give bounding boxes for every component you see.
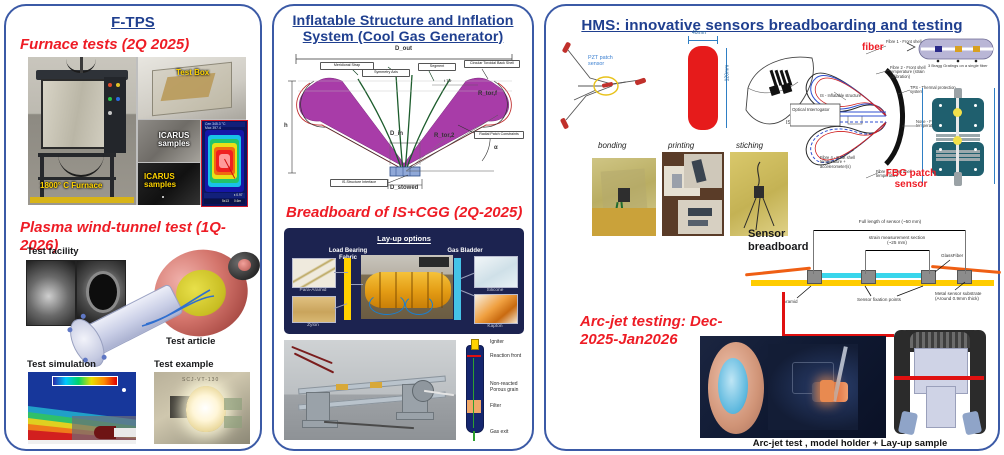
panel-title-f-tps: F-TPS (6, 15, 260, 32)
callout-segment: Segment (418, 63, 456, 71)
panel-title-inflatable-structure: Inflatable Structure and Inflation Syste… (274, 14, 532, 46)
photo-printing (662, 152, 724, 236)
inflated-bag-photo (361, 255, 453, 319)
label-para-aramid: Para-Aramid (292, 288, 334, 293)
dim-r-tor-f: R_tor,f (478, 91, 497, 97)
dim-d-stowed: D_stowed (390, 185, 418, 191)
caption-icarus-samples-1: ICARUS samples (148, 132, 200, 149)
swatch-zylon (292, 296, 336, 323)
test-article-leader-lines (136, 274, 226, 334)
caption-test-facility: Test facility (27, 246, 79, 257)
slide-root: F-TPS Furnace tests (2Q 2025) (0, 0, 1004, 455)
cgg-label-igniter: Igniter (490, 340, 504, 346)
test-example-photo: SCJ-VT-130 (154, 372, 250, 444)
ir-thermal-image: Cen 345.3 °C Max 397.4 5x13 0.6m ε 0.97 (201, 120, 248, 207)
callout-radial-patch-constraints: Radial Patch Constraints (474, 131, 524, 139)
fiber-callout-fibre-4: Fibre 4 - Back shell temperature + accel… (820, 156, 868, 169)
dim-r-tor-2: R_tor,2 (434, 133, 454, 139)
swatch-para-aramid (292, 258, 336, 288)
pzt-patch-sensor-sketch: PZT patch sensor (556, 40, 672, 136)
label-silicone: Silicone (474, 288, 516, 293)
caption-furnace: 1800° C Furnace (40, 181, 102, 190)
layup-right-group-label: Gas Bladder (442, 248, 488, 255)
dim-120mm: 120mm (724, 65, 730, 82)
caption-stiching: stiching (736, 141, 763, 150)
label-fiber: fiber (862, 42, 884, 53)
dim-h: h (284, 123, 288, 129)
dim-alpha: α (494, 145, 498, 151)
ir-readout-distance: 0.6m (234, 200, 241, 203)
bar-load-bearing-fabric (344, 258, 351, 320)
pointer-line-vertical (782, 292, 785, 336)
cgg-label-reaction-front: Reaction front (490, 354, 530, 360)
callout-is-structure-interface: IS-Structure Interface (330, 179, 388, 187)
cgg-label-gas-exit: Gas exit (490, 430, 508, 436)
inflatable-structure-diagram: D_out D_in D_stowed R_tor,f R_tor,2 h α … (282, 45, 526, 193)
callout-circular-toroidal-back-shell: Circular Toroidal Back Shell (464, 60, 520, 68)
cgg-igniter (471, 339, 479, 350)
dim-line-40mm (688, 40, 718, 41)
label-zylon: Zylon (292, 323, 334, 328)
caption-test-article: Test article (166, 336, 215, 347)
furnace-tests-image-group: 1800° C Furnace Test Box ICARUS samples … (28, 57, 246, 205)
label-fbg-patch-sensor: FBG patch sensor (878, 168, 944, 190)
layup-options-card: Lay-up options Load Bearing Fabric Gas B… (284, 228, 524, 334)
test-example-marking: SCJ-VT-130 (182, 378, 219, 383)
label-kapton: Kapton (474, 324, 516, 329)
section-label-furnace-tests: Furnace tests (2Q 2025) (20, 36, 189, 54)
arc-jet-test-photo (700, 336, 886, 438)
cgg-gas-exit (473, 431, 475, 441)
swatch-kapton (474, 294, 518, 324)
caption-bonding: bonding (598, 141, 626, 150)
dim-40mm: 40mm (692, 30, 706, 36)
caption-icarus-samples-2: ICARUS samples (144, 173, 200, 190)
dim-d-out: D_out (395, 46, 412, 52)
label-pzt-patch-sensor: PZT patch sensor (588, 56, 630, 68)
layup-options-title: Lay-up options (284, 234, 524, 243)
ir-readout-emissivity: ε 0.97 (234, 194, 243, 197)
dim-t-tor: t Tor (444, 79, 452, 83)
swatch-silicone (474, 256, 518, 288)
caption-arc-jet-test: Arc-jet test , model holder + Lay-up sam… (700, 438, 1000, 449)
fiber-note-bragg: 3 Bragg Gratings on a single fiber (928, 64, 988, 68)
caption-test-example: Test example (154, 359, 214, 370)
is-cylinder-schematic (688, 46, 718, 130)
caption-test-simulation: Test simulation (27, 359, 96, 370)
dim-line-120mm (726, 48, 727, 128)
furnace-photo: 1800° C Furnace (28, 57, 136, 205)
dim-d-in: D_in (390, 131, 403, 137)
caption-test-box: Test Box (176, 68, 209, 77)
callout-symmetry-axis: Symmetry Axis (362, 69, 410, 77)
cgg-breadboard-photo (284, 340, 456, 440)
bar-gas-bladder (454, 258, 461, 320)
panel-f-tps: F-TPS Furnace tests (2Q 2025) (4, 4, 262, 451)
fiber-callout-optical-interrogator: Optical Interrogator (792, 108, 836, 113)
fiber-cutaway-diagram (905, 33, 1000, 67)
cgg-label-filter: Filter (490, 404, 501, 410)
cgg-label-non-reacted-porous-grain: Non-reacted Porous grain (490, 382, 532, 393)
icarus-samples-photo-light: ICARUS samples (138, 120, 200, 162)
test-simulation-image (28, 372, 136, 444)
photo-bonding-substrate (592, 208, 656, 236)
caption-printing: printing (668, 141, 694, 150)
fiber-callout-is: IS - Inflatable structure (820, 94, 864, 98)
section-label-breadboard-is-cgg: Breadboard of IS+CGG (2Q-2025) (286, 204, 522, 222)
test-box-photo: Test Box (138, 57, 246, 119)
model-holder-cad (888, 326, 992, 442)
icarus-samples-photo-dark: ICARUS samples (138, 163, 200, 205)
cool-gas-generator-tube (466, 345, 484, 433)
ir-readout-min: Max 397.4 (205, 127, 221, 131)
ir-readout-timestamp: 5x13 (222, 200, 229, 203)
